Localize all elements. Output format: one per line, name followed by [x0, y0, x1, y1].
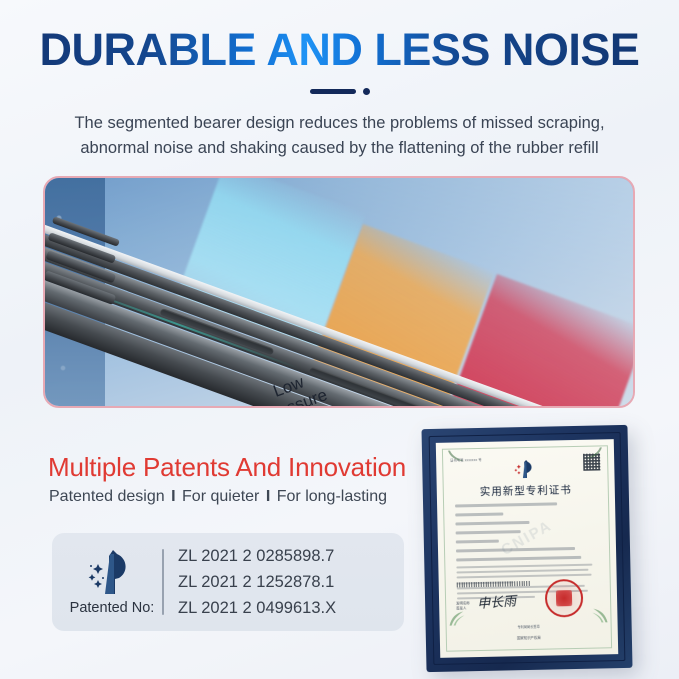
- certificate-paper: CNIPA 证书号第 xxxxxxx 号: [436, 439, 618, 658]
- certificate-field-line: [455, 521, 529, 525]
- divider-bar: [310, 89, 356, 94]
- certificate-footer-secondary: 专利局局长签章: [452, 622, 606, 630]
- certificate-signature: 申长雨: [476, 590, 516, 612]
- product-illustration-panel: Low pressure Medium pressure High pressu…: [43, 176, 635, 408]
- certificate-official-seal: [545, 579, 584, 618]
- certificate-content: 证书号第 xxxxxxx 号 实用新型专利证书: [448, 451, 606, 645]
- certificate-field-line: [456, 540, 499, 543]
- certificate-field-line: [456, 556, 581, 561]
- title-divider: [310, 85, 370, 97]
- certificate-field-line: [456, 530, 521, 534]
- patent-number: ZL 2021 2 0285898.7: [178, 547, 336, 566]
- patent-number: ZL 2021 2 0499613.X: [178, 599, 336, 618]
- certificate-corner-ornament: [446, 448, 466, 468]
- certificate-field-line: [455, 512, 503, 516]
- patent-number-list: ZL 2021 2 0285898.7 ZL 2021 2 1252878.1 …: [178, 547, 336, 618]
- patent-box-divider: [162, 549, 164, 615]
- certificate-corner-ornament: [589, 604, 609, 624]
- patent-logo-column: Patented No:: [66, 548, 158, 616]
- patents-sub-part-3: For long-lasting: [277, 488, 387, 505]
- patent-number: ZL 2021 2 1252878.1: [178, 573, 336, 592]
- certificate-paragraph-line: [457, 574, 592, 579]
- panel-inner: Low pressure Medium pressure High pressu…: [45, 178, 633, 406]
- certificate-title: 实用新型专利证书: [449, 481, 603, 499]
- certificate-footer: 国家知识产权局: [452, 633, 606, 641]
- page-title: DURABLE AND LESS NOISE: [0, 26, 679, 73]
- certificate-paragraph-line: [456, 569, 588, 574]
- patent-number-label: Patented No:: [70, 600, 155, 616]
- certificate-emblem-icon: [512, 459, 538, 480]
- certificate-field-lines: [455, 502, 598, 568]
- header-section: DURABLE AND LESS NOISE The segmented bea…: [0, 0, 679, 161]
- subtitle-line-2: abnormal noise and shaking caused by the…: [45, 136, 635, 161]
- divider-dot: [363, 88, 370, 95]
- certificate-corner-ornament: [584, 445, 604, 465]
- patents-sub-part-1: Patented design: [49, 488, 165, 505]
- patents-separator-1: I: [169, 488, 177, 505]
- patents-heading: Multiple Patents And Innovation: [48, 452, 406, 483]
- certificate-corner-ornament: [447, 607, 467, 627]
- certificate-field-line: [455, 502, 557, 507]
- patent-office-logo-icon: [83, 548, 141, 598]
- patents-sub-part-2: For quieter: [182, 488, 259, 505]
- certificate-frame: CNIPA 证书号第 xxxxxxx 号: [421, 425, 632, 672]
- patent-certificate-photo: CNIPA 证书号第 xxxxxxx 号: [421, 425, 632, 672]
- subtitle-line-1: The segmented bearer design reduces the …: [45, 111, 635, 136]
- patents-subheading: Patented design I For quieter I For long…: [49, 488, 387, 506]
- certificate-field-line: [456, 547, 575, 552]
- page-subtitle: The segmented bearer design reduces the …: [45, 111, 635, 161]
- patent-numbers-box: Patented No: ZL 2021 2 0285898.7 ZL 2021…: [52, 533, 404, 631]
- patents-separator-2: I: [264, 488, 272, 505]
